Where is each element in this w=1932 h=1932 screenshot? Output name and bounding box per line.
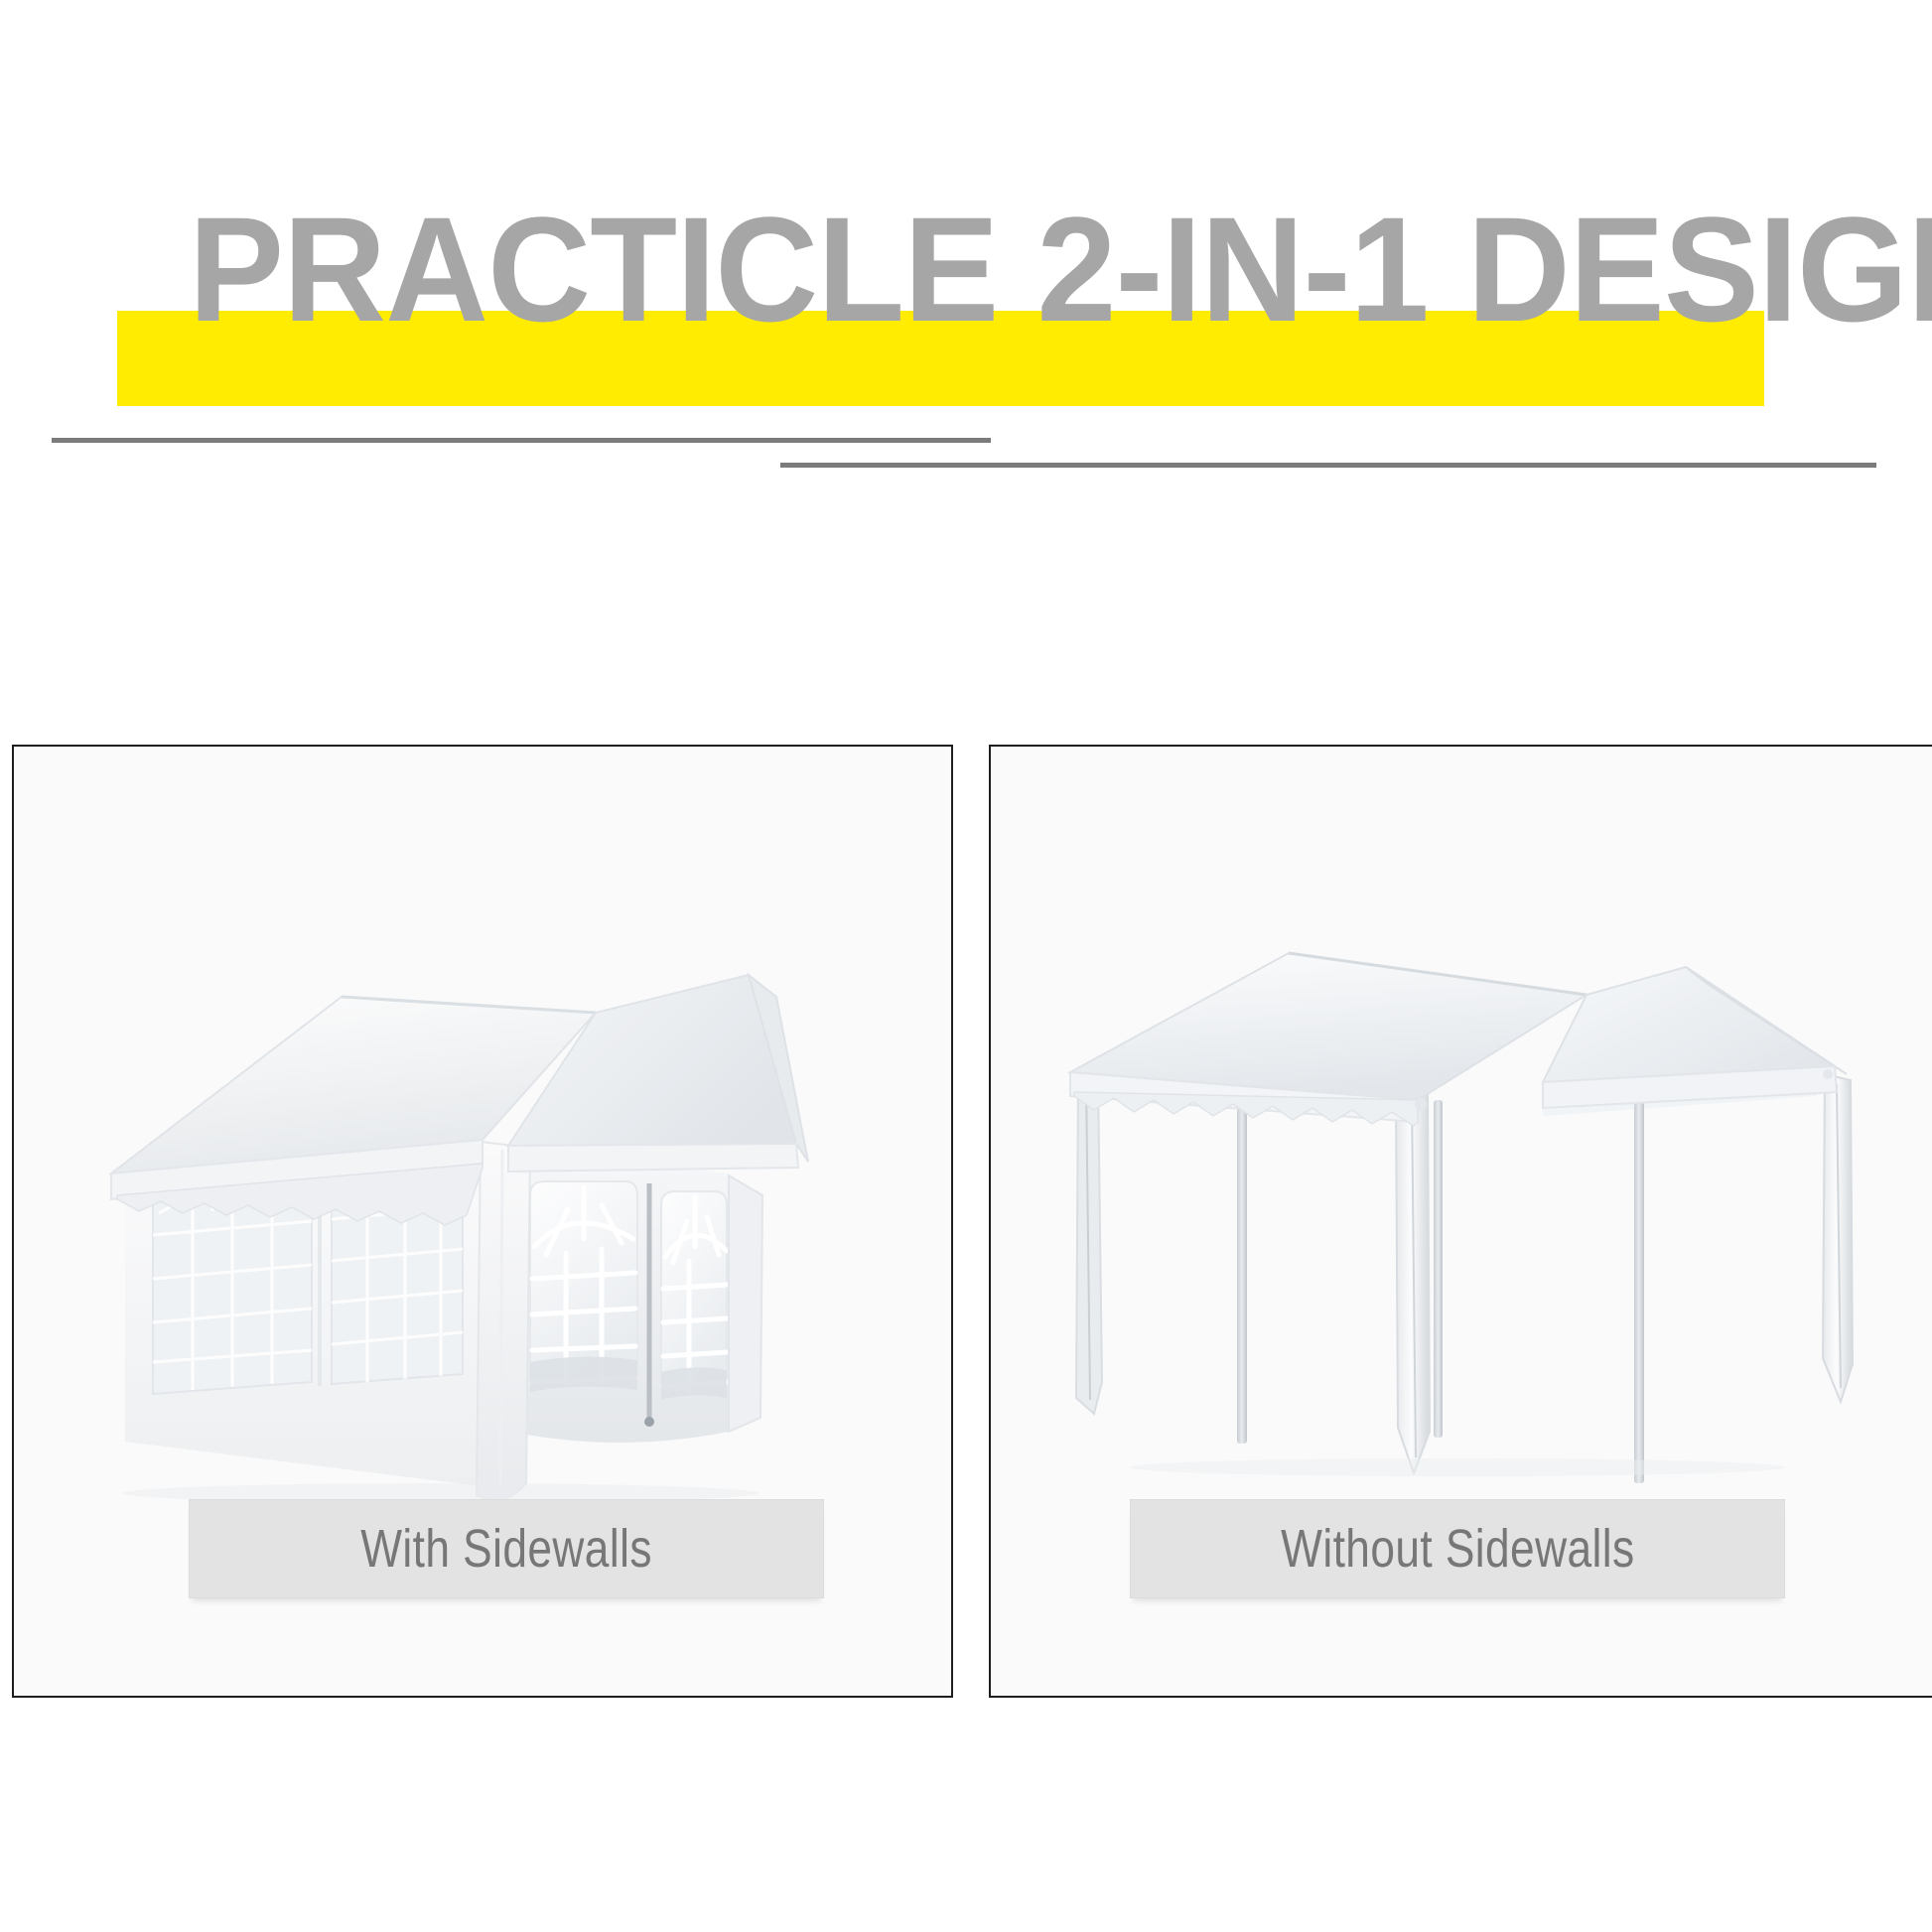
caption-label: With Sidewalls (360, 1518, 652, 1580)
caption-with-sidewalls: With Sidewalls (189, 1499, 824, 1598)
tent-with-sidewalls-illustration (14, 747, 953, 1501)
product-image-with-sidewalls (14, 747, 951, 1501)
divider-line-left (52, 438, 991, 443)
page-title: PRACTICLE 2-IN-1 DESIGN (189, 195, 1714, 344)
product-panel-without-sidewalls: Without Sidewalls (989, 745, 1932, 1698)
caption-without-sidewalls: Without Sidewalls (1130, 1499, 1785, 1598)
header-banner: PRACTICLE 2-IN-1 DESIGN (0, 0, 1932, 516)
product-image-without-sidewalls (991, 747, 1932, 1501)
caption-label: Without Sidewalls (1281, 1518, 1634, 1580)
tent-without-sidewalls-illustration (991, 747, 1932, 1501)
product-panel-with-sidewalls: With Sidewalls (12, 745, 953, 1698)
divider-line-right (780, 463, 1876, 468)
